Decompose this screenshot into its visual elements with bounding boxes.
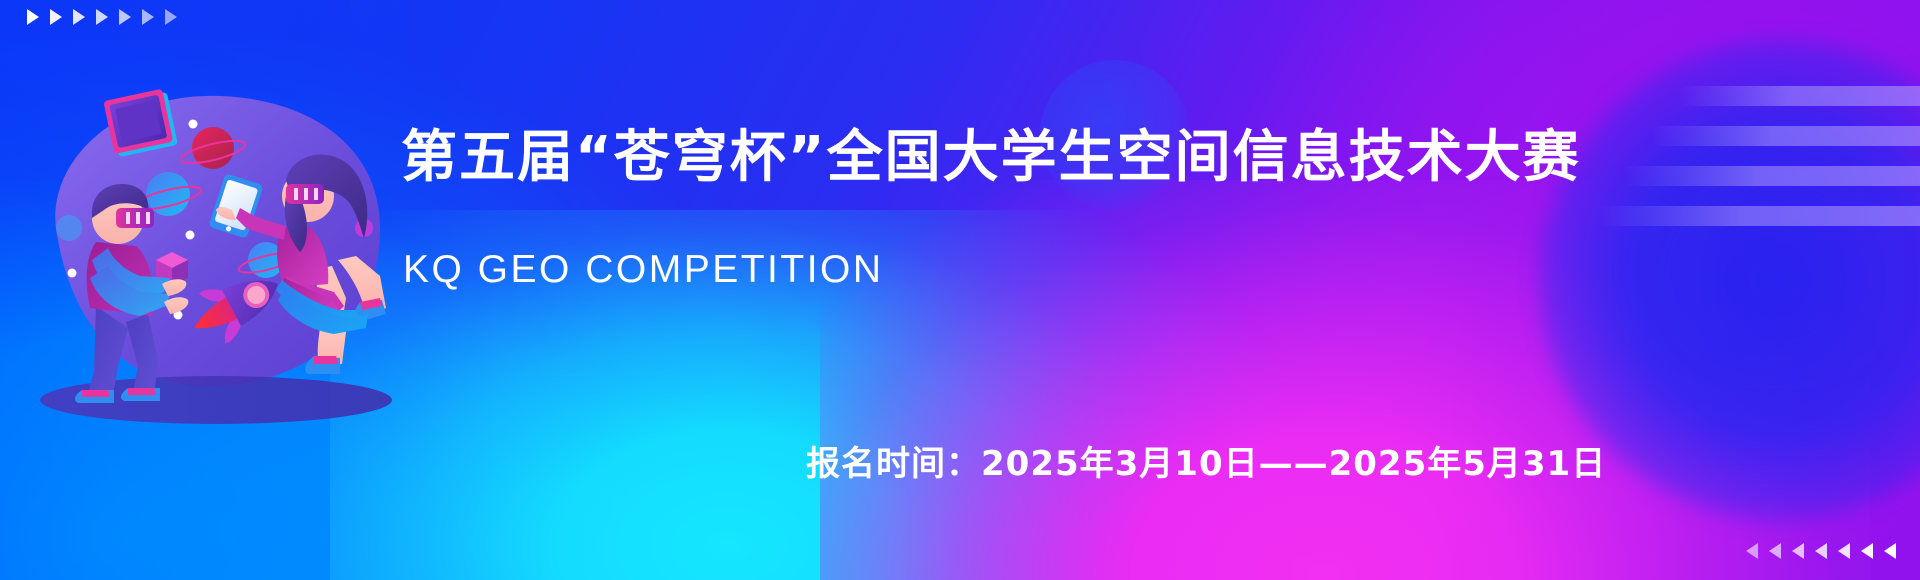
registration-period: 报名时间：2025年3月10日——2025年5月31日 [806,447,1606,481]
planet-dot-small-left [56,215,82,241]
page-title: 第五届“苍穹杯”全国大学生空间信息技术大赛 [401,130,1581,186]
triangle-left-icon [1746,543,1758,559]
triangle-left-icon [1861,543,1873,559]
vr-metaverse-illustration [20,60,400,460]
competition-banner: 第五届“苍穹杯”全国大学生空间信息技术大赛 KQ GEO COMPETITION… [0,0,1920,580]
decor-arrows-bottom-right [1746,543,1896,559]
triangle-right-icon [119,9,131,25]
triangle-right-icon [96,9,108,25]
triangle-right-icon [142,9,154,25]
triangle-left-icon [1884,543,1896,559]
triangle-right-icon [27,9,39,25]
decor-arrows-top-left [27,9,177,25]
triangle-right-icon [73,9,85,25]
decor-stripes [1600,86,1920,246]
triangle-left-icon [1792,543,1804,559]
triangle-right-icon [165,9,177,25]
page-subtitle: KQ GEO COMPETITION [403,250,884,289]
triangle-left-icon [1838,543,1850,559]
triangle-left-icon [1815,543,1827,559]
triangle-left-icon [1769,543,1781,559]
triangle-right-icon [50,9,62,25]
